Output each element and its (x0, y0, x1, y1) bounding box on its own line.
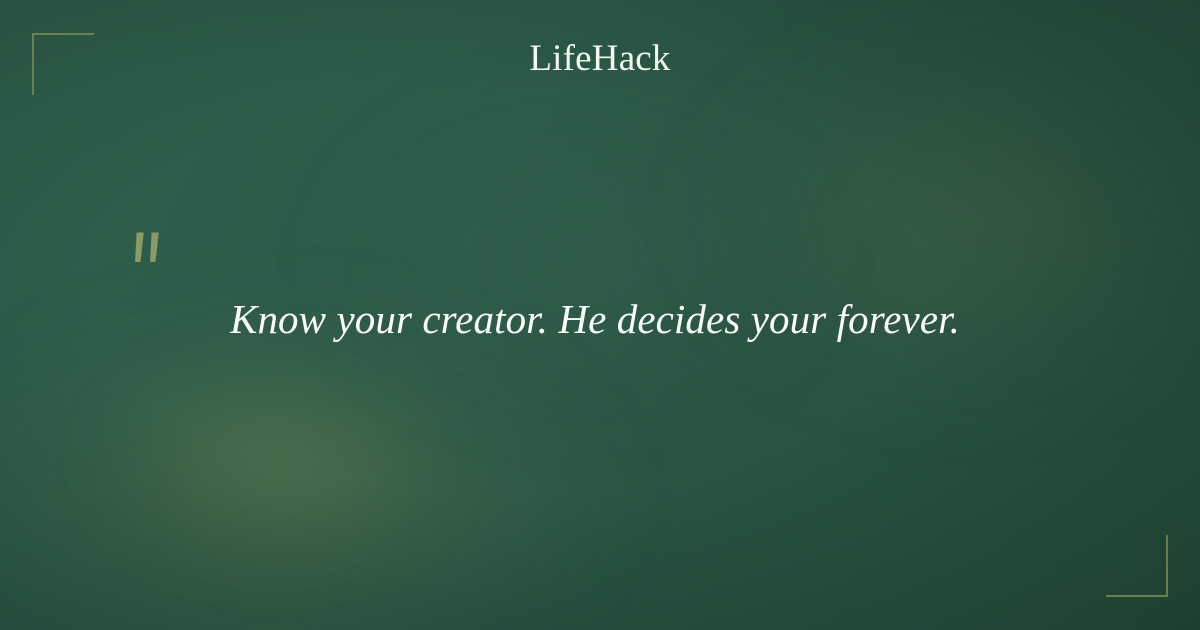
quotation-mark-icon (130, 206, 178, 268)
corner-bracket-icon-bottom-right (1106, 535, 1168, 597)
brand-wordmark: LifeHack (0, 40, 1200, 79)
quote-body-text: Know your creator. He decides your forev… (230, 294, 990, 344)
quote-card: LifeHack Know your creator. He decides y… (0, 0, 1200, 630)
